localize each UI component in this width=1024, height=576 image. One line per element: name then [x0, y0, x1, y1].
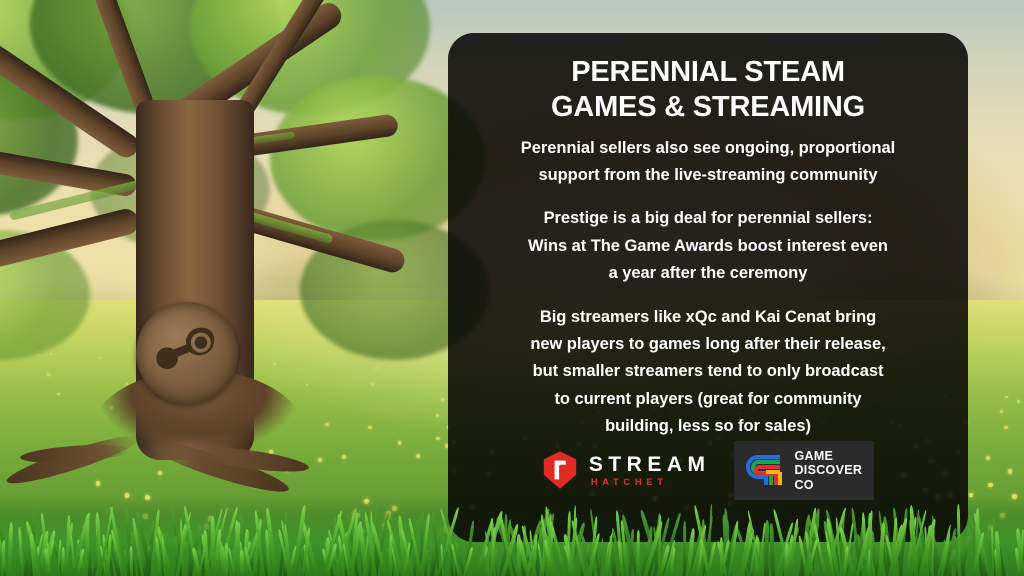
- stream-hatchet-wordmark: STREAM HATCHET: [589, 454, 711, 488]
- steam-logo-emblem: [136, 302, 238, 404]
- oak-tree: [0, 0, 500, 576]
- paragraph-2-line-3: a year after the ceremony: [609, 264, 808, 282]
- paragraph-1-line-2: support from the live-streaming communit…: [538, 166, 877, 184]
- paragraph-3-line-5: building, less so for sales): [605, 417, 811, 435]
- stream-hatchet-secondary: HATCHET: [589, 478, 711, 488]
- logo-strip: STREAM HATCHET: [542, 441, 874, 531]
- stream-hatchet-logo: STREAM HATCHET: [542, 450, 711, 490]
- title-line-2: GAMES & STREAMING: [551, 90, 865, 125]
- gdc-line-3: CO: [794, 478, 862, 493]
- gdc-line-1: GAME: [794, 449, 862, 464]
- paragraph-3-line-3: but smaller streamers tend to only broad…: [533, 362, 884, 380]
- paragraph-1-line-1: Perennial sellers also see ongoing, prop…: [521, 139, 895, 157]
- stream-hatchet-primary: STREAM: [589, 454, 711, 475]
- game-discover-co-wordmark: GAME DISCOVER CO: [794, 449, 862, 493]
- gdc-g-icon: [744, 451, 784, 489]
- paragraph-2: Prestige is a big deal for perennial sel…: [528, 205, 888, 287]
- paragraph-2-line-1: Prestige is a big deal for perennial sel…: [544, 209, 873, 227]
- paragraph-3-line-4: to current players (great for community: [554, 390, 861, 408]
- game-discover-co-logo: GAME DISCOVER CO: [734, 441, 874, 501]
- paragraph-3-line-2: new players to games long after their re…: [530, 335, 885, 353]
- gdc-line-2: DISCOVER: [794, 463, 862, 478]
- paragraph-1: Perennial sellers also see ongoing, prop…: [521, 135, 895, 190]
- title-line-1: PERENNIAL STEAM: [571, 56, 845, 88]
- paragraph-3: Big streamers like xQc and Kai Cenat bri…: [530, 304, 885, 441]
- slide-title: PERENNIAL STEAM GAMES & STREAMING: [551, 55, 865, 125]
- paragraph-3-line-1: Big streamers like xQc and Kai Cenat bri…: [540, 308, 876, 326]
- hatchet-shield-icon: [542, 450, 578, 490]
- paragraph-2-line-2: Wins at The Game Awards boost interest e…: [528, 237, 888, 255]
- content-card: PERENNIAL STEAM GAMES & STREAMING Perenn…: [448, 33, 968, 542]
- slide-canvas: PERENNIAL STEAM GAMES & STREAMING Perenn…: [0, 0, 1024, 576]
